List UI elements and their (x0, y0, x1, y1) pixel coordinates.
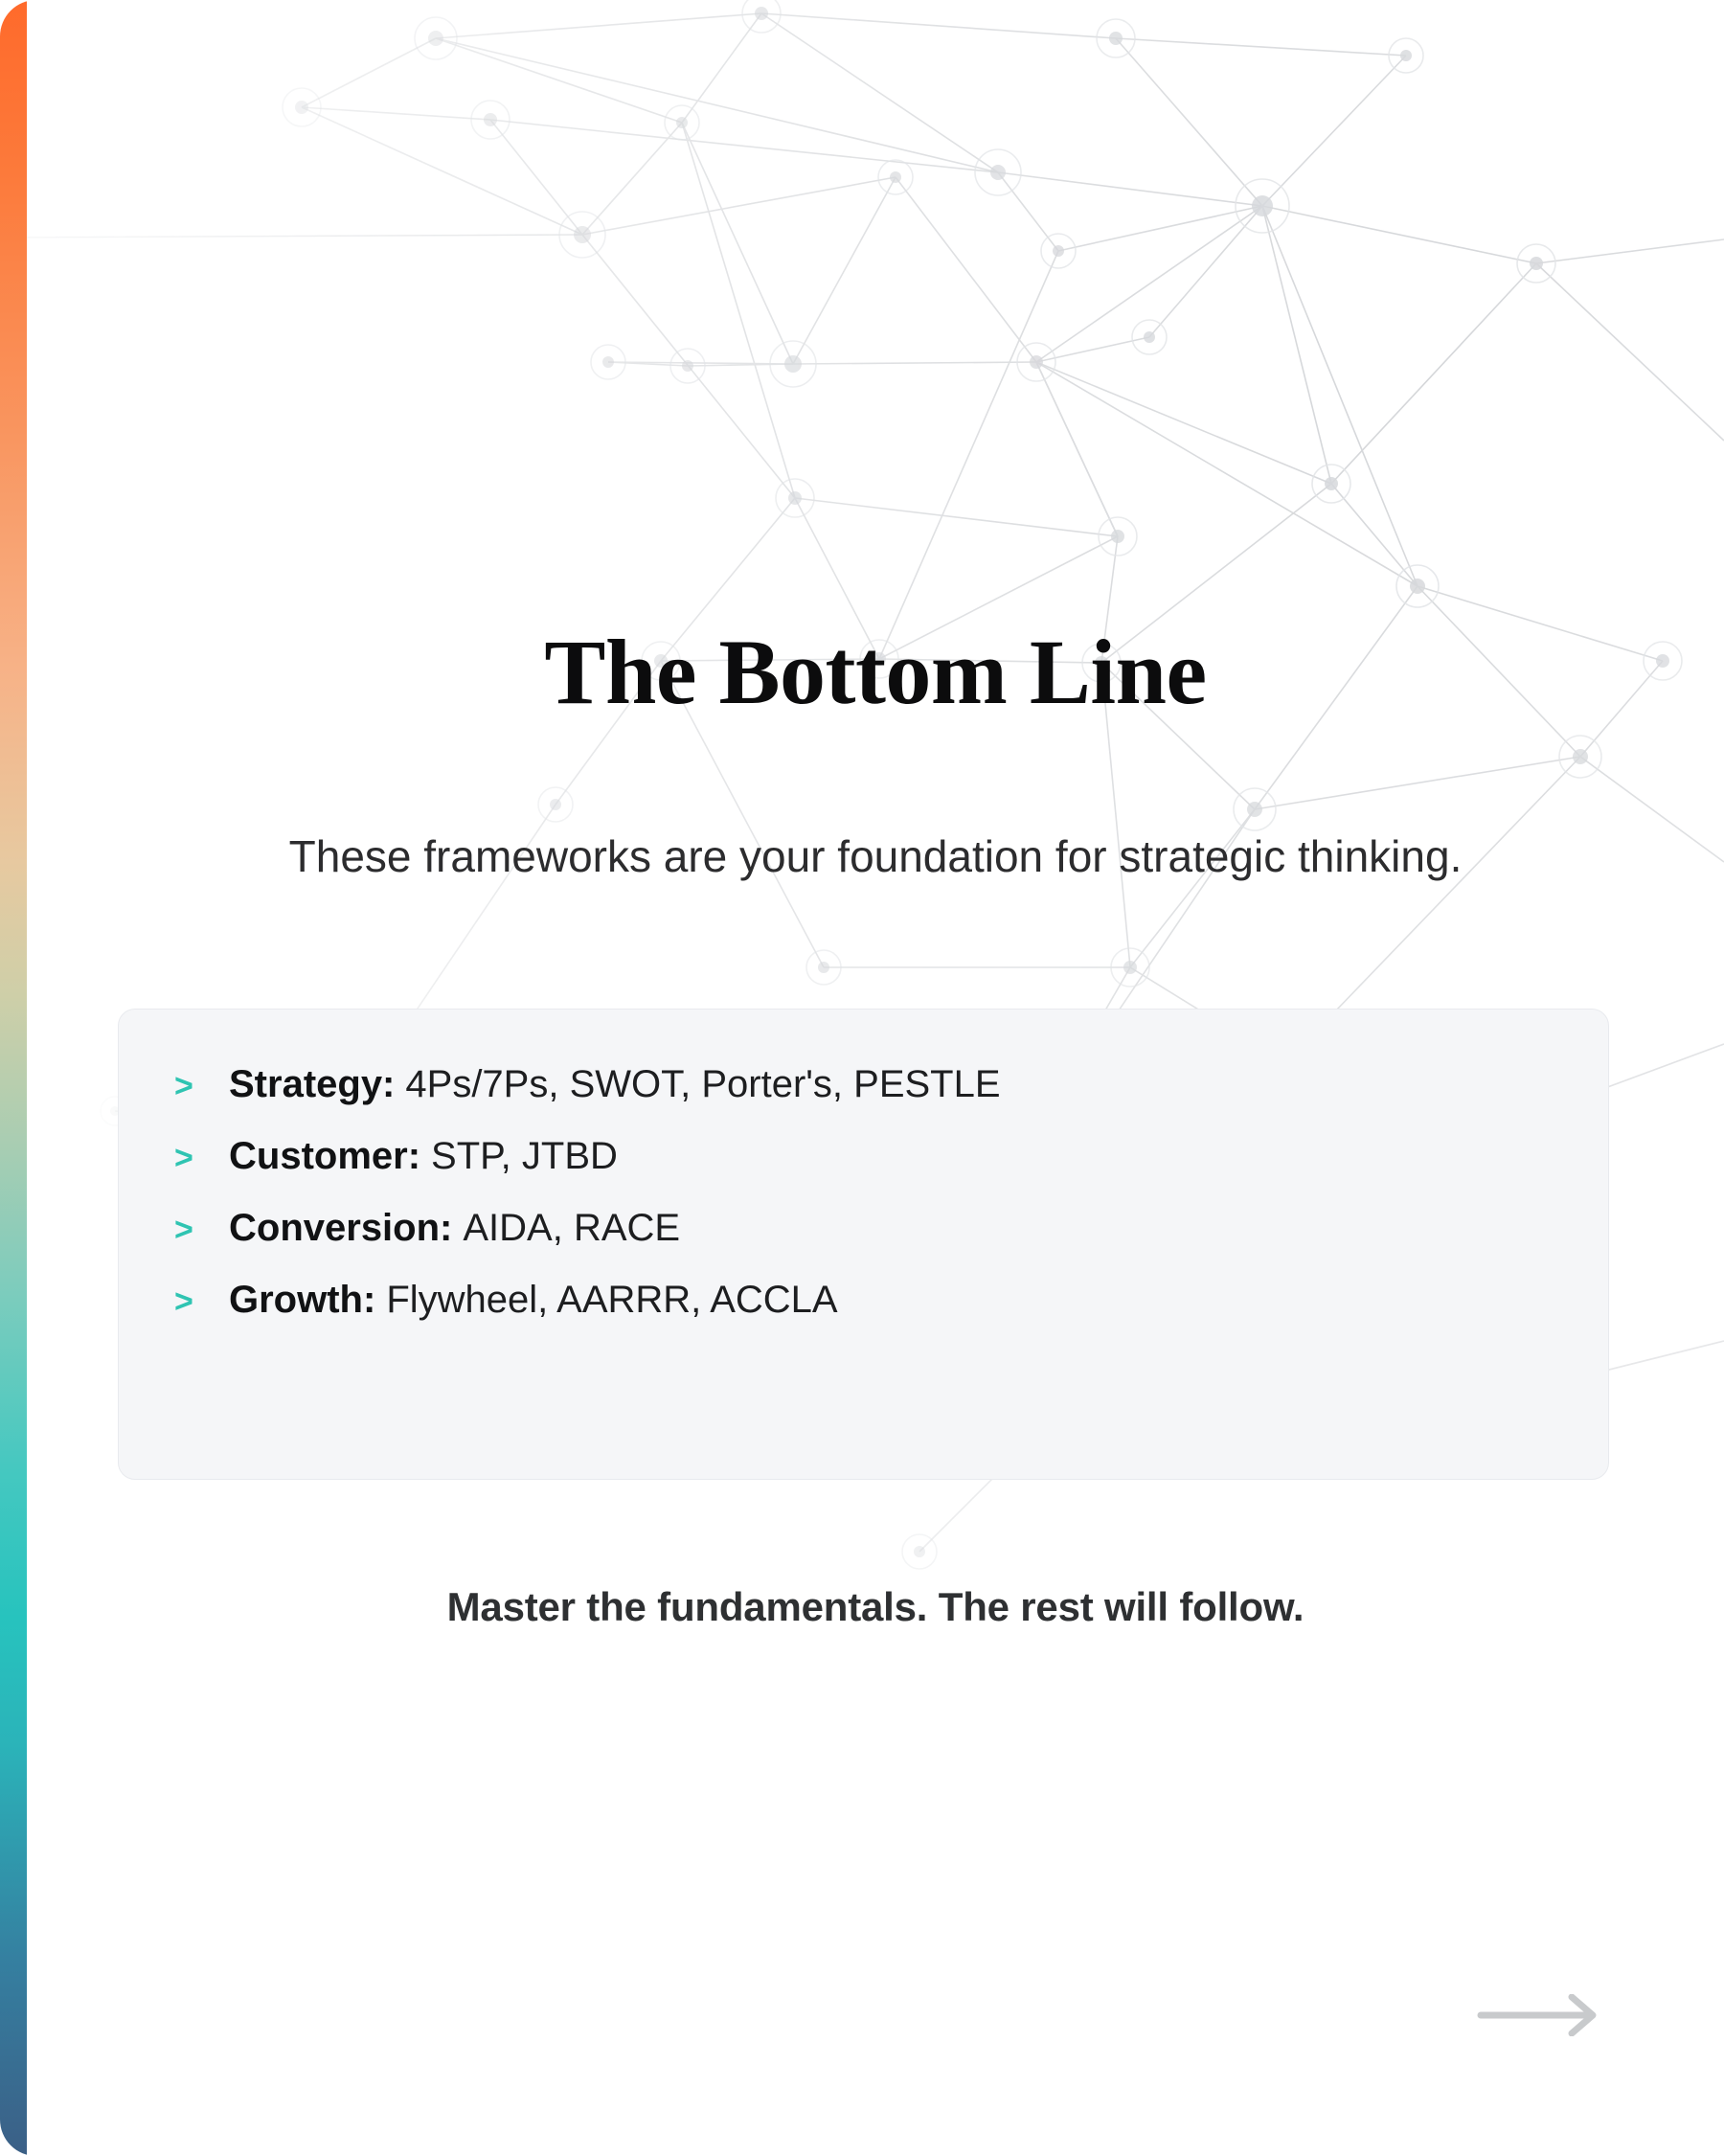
list-item-label: Customer: (229, 1135, 420, 1177)
chevron-right-icon: > (174, 1214, 229, 1246)
chevron-right-icon: > (174, 1285, 229, 1318)
closing-statement: Master the fundamentals. The rest will f… (27, 1584, 1724, 1630)
list-item-label: Growth: (229, 1279, 375, 1321)
list-item: > Customer: STP, JTBD (174, 1135, 1553, 1177)
list-item: > Conversion: AIDA, RACE (174, 1207, 1553, 1249)
list-item: > Strategy: 4Ps/7Ps, SWOT, Porter's, PES… (174, 1063, 1553, 1105)
list-item-value: AIDA, RACE (452, 1207, 680, 1249)
list-item-value: STP, JTBD (420, 1135, 618, 1177)
frameworks-list: > Strategy: 4Ps/7Ps, SWOT, Porter's, PES… (174, 1063, 1553, 1321)
slide-card: The Bottom Line These frameworks are you… (0, 0, 1724, 2156)
chevron-right-icon: > (174, 1070, 229, 1102)
next-slide-button[interactable] (1477, 1994, 1601, 2036)
gradient-accent-bar (0, 0, 27, 2156)
slide-subtitle: These frameworks are your foundation for… (253, 828, 1498, 886)
frameworks-panel: > Strategy: 4Ps/7Ps, SWOT, Porter's, PES… (118, 1009, 1609, 1480)
list-item-value: 4Ps/7Ps, SWOT, Porter's, PESTLE (395, 1063, 1000, 1105)
page-title: The Bottom Line (27, 624, 1724, 721)
slide-content: The Bottom Line These frameworks are you… (27, 0, 1724, 2156)
list-item-value: Flywheel, AARRR, ACCLA (375, 1279, 837, 1321)
list-item: > Growth: Flywheel, AARRR, ACCLA (174, 1279, 1553, 1321)
chevron-right-icon: > (174, 1142, 229, 1174)
list-item-label: Conversion: (229, 1207, 452, 1249)
arrow-right-icon (1477, 1994, 1601, 2036)
list-item-label: Strategy: (229, 1063, 395, 1105)
